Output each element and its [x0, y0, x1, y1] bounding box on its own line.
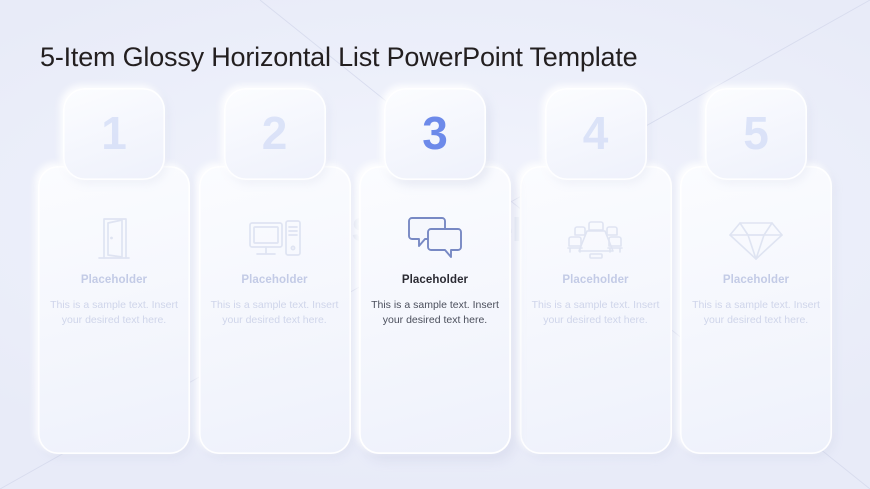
badge-number-label: 4 — [583, 110, 609, 156]
item-body-text: This is a sample text. Insert your desir… — [680, 298, 832, 328]
number-badge-2[interactable]: 2 — [224, 88, 326, 180]
item-card-2[interactable]: Placeholder This is a sample text. Inser… — [199, 166, 351, 454]
badge-number-label: 2 — [262, 110, 288, 156]
item-card-4[interactable]: Placeholder This is a sample text. Inser… — [520, 166, 672, 454]
number-badge-3[interactable]: 3 — [384, 88, 486, 180]
conference-table-icon — [520, 210, 672, 266]
item-body-text: This is a sample text. Insert your desir… — [38, 298, 190, 328]
item-heading: Placeholder — [38, 274, 190, 286]
item-heading: Placeholder — [199, 274, 351, 286]
number-badge-5[interactable]: 5 — [705, 88, 807, 180]
list-item-2[interactable]: 2 Placeholder This is a sample text. In — [199, 88, 351, 454]
list-item-5[interactable]: 5 Placeholder This is a sample text. Ins… — [680, 88, 832, 454]
badge-number-label: 3 — [422, 110, 448, 156]
slide-canvas: SlideModel .com 5-Item Glossy Horizontal… — [0, 0, 870, 489]
diamond-icon — [680, 210, 832, 266]
item-card-1[interactable]: Placeholder This is a sample text. Inser… — [38, 166, 190, 454]
item-card-5[interactable]: Placeholder This is a sample text. Inser… — [680, 166, 832, 454]
item-columns: 1 Placeholder This is a sample text. Ins… — [38, 88, 832, 454]
list-item-3[interactable]: 3 Placeholder This is a sample text. Ins… — [359, 88, 511, 454]
badge-number-label: 5 — [743, 110, 769, 156]
door-icon — [38, 210, 190, 266]
item-body-text: This is a sample text. Insert your desir… — [359, 298, 511, 328]
item-heading: Placeholder — [520, 274, 672, 286]
item-heading: Placeholder — [680, 274, 832, 286]
item-heading: Placeholder — [359, 274, 511, 286]
desktop-computer-icon — [199, 210, 351, 266]
number-badge-4[interactable]: 4 — [545, 88, 647, 180]
badge-number-label: 1 — [101, 110, 127, 156]
list-item-4[interactable]: 4 Placeholder — [520, 88, 672, 454]
number-badge-1[interactable]: 1 — [63, 88, 165, 180]
list-item-1[interactable]: 1 Placeholder This is a sample text. Ins… — [38, 88, 190, 454]
item-card-3[interactable]: Placeholder This is a sample text. Inser… — [359, 166, 511, 454]
slide-title: 5-Item Glossy Horizontal List PowerPoint… — [40, 42, 637, 73]
item-body-text: This is a sample text. Insert your desir… — [199, 298, 351, 328]
item-body-text: This is a sample text. Insert your desir… — [520, 298, 672, 328]
chat-bubbles-icon — [359, 210, 511, 266]
